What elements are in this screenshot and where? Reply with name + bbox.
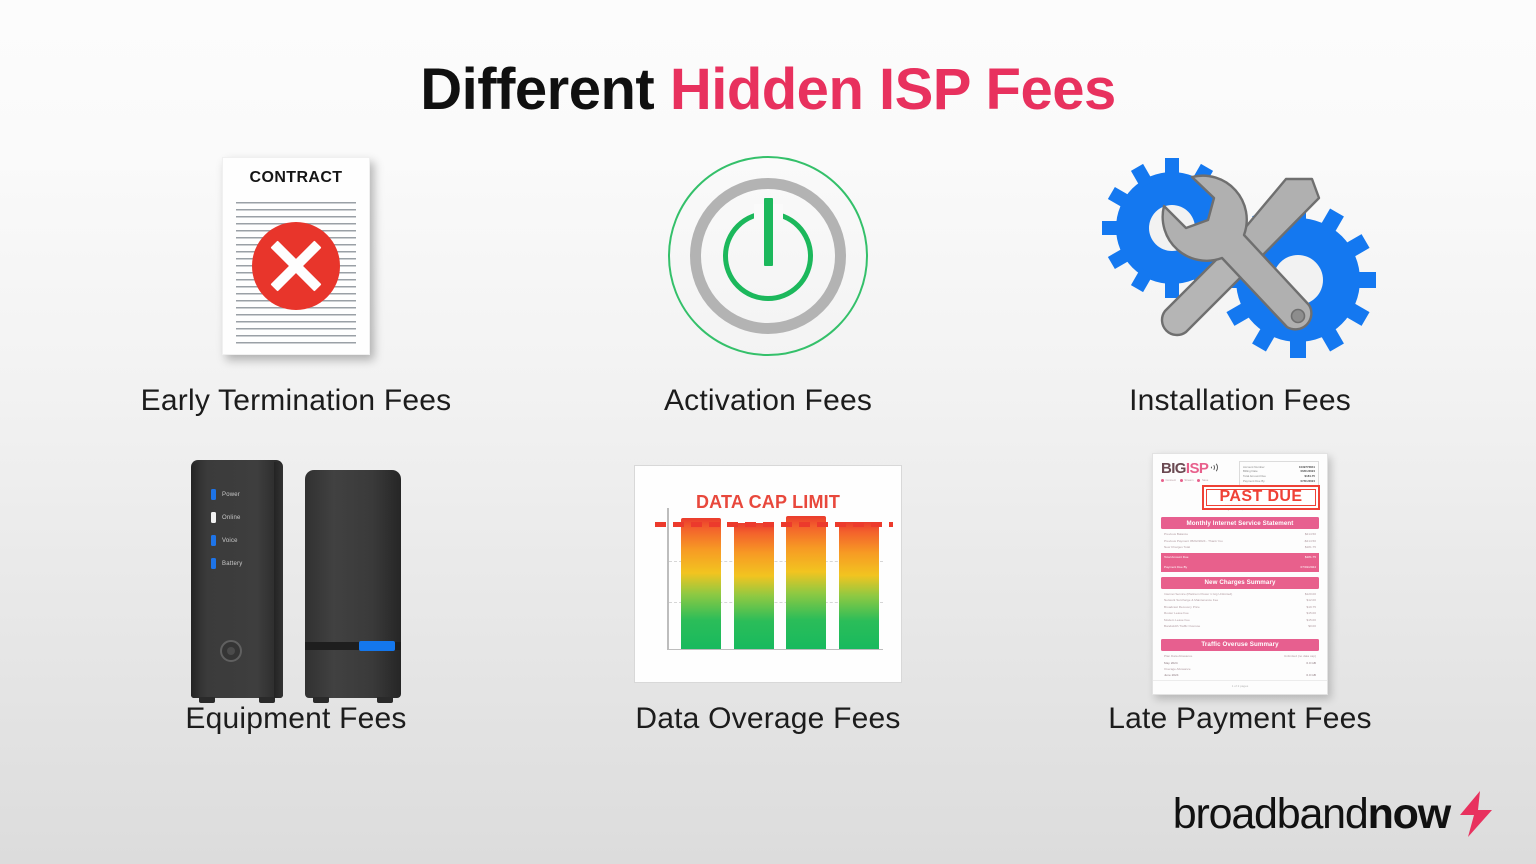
page-title: Different Hidden ISP Fees xyxy=(0,56,1536,123)
page-title-black: Different xyxy=(420,57,670,122)
data-cap-chart: DATA CAP LIMIT xyxy=(634,465,902,683)
tagline-save: Save xyxy=(1202,478,1208,482)
line-label: New Charges Total xyxy=(1164,544,1190,550)
modem-front: Power Online Voice Battery xyxy=(191,460,283,698)
modem-led-row: Online xyxy=(211,509,242,526)
total-due-value: $181.75 xyxy=(1305,554,1316,560)
modem-led-strip xyxy=(359,641,395,651)
brand-wordmark: broadbandnow xyxy=(1173,793,1450,836)
data-cap-chart-icon: DATA CAP LIMIT xyxy=(532,458,1004,690)
fee-label-late-payment: Late Payment Fees xyxy=(1004,702,1476,736)
led-label-voice: Voice xyxy=(222,538,238,544)
fee-card-equipment: Power Online Voice Battery xyxy=(60,458,532,758)
led-label-online: Online xyxy=(222,515,241,521)
led-indicator-voice xyxy=(211,535,216,546)
tagline-stream: Stream xyxy=(1184,478,1193,482)
due-by-label: Payment Due By xyxy=(1164,564,1187,570)
red-x-icon xyxy=(252,222,340,310)
chart-bar xyxy=(839,522,879,648)
fee-card-activation: Activation Fees xyxy=(532,140,1004,440)
fee-card-early-termination: CONTRACT Early Termination Fees xyxy=(60,140,532,440)
modem-led-row: Voice xyxy=(211,532,242,549)
led-label-battery: Battery xyxy=(222,561,242,567)
bill-logo-tagline: Connect Stream Save xyxy=(1161,478,1219,482)
power-button-graphic xyxy=(668,156,868,356)
bill-section-header-statement: Monthly Internet Service Statement xyxy=(1161,517,1319,529)
modem-led-row: Power xyxy=(211,486,242,503)
fee-label-data-overage: Data Overage Fees xyxy=(532,702,1004,736)
gears-tools-svg xyxy=(1090,140,1390,372)
due-by-value: 07/01/2024 xyxy=(1301,564,1316,570)
led-indicator-power xyxy=(211,489,216,500)
bill-logo-big: BIG xyxy=(1161,460,1186,477)
fee-card-installation: Installation Fees xyxy=(1004,140,1476,440)
modem-back xyxy=(305,470,401,698)
bill-logo-isp: ISP xyxy=(1186,460,1208,477)
chart-plot-area xyxy=(667,508,883,650)
fee-card-data-overage: DATA CAP LIMIT Data Overage Fees xyxy=(532,458,1004,758)
acct-label: Payment Due By xyxy=(1243,479,1265,484)
contract-x-icon: CONTRACT xyxy=(60,140,532,372)
lightning-bolt-icon xyxy=(1456,789,1496,839)
gears-tools-icon xyxy=(1004,140,1476,372)
acct-value: 07/01/2024 xyxy=(1301,479,1315,484)
bill-account-box: Account Number1039772841 Billing Date06/… xyxy=(1239,461,1319,488)
line-value: $181.75 xyxy=(1305,544,1316,550)
chart-y-axis xyxy=(667,508,669,650)
modem-power-button[interactable] xyxy=(220,640,242,662)
brand-bold: now xyxy=(1368,790,1450,838)
fee-card-late-payment: BIGISP Connect Stream Save Account Numbe… xyxy=(1004,458,1476,758)
fee-label-equipment: Equipment Fees xyxy=(60,702,532,736)
fee-label-early-termination: Early Termination Fees xyxy=(60,384,532,418)
power-button-icon xyxy=(532,140,1004,372)
chart-bar xyxy=(681,518,721,649)
fee-label-installation: Installation Fees xyxy=(1004,384,1476,418)
bill-footer: 1 of 2 pages xyxy=(1153,680,1327,688)
bill-section-body-statement: Previous Balance$214.50 Previous Payment… xyxy=(1161,529,1319,571)
modem-pair: Power Online Voice Battery xyxy=(191,450,401,698)
chart-bars xyxy=(681,508,879,649)
tagline-connect: Connect xyxy=(1166,478,1176,482)
contract-document: CONTRACT xyxy=(222,157,370,355)
led-indicator-online xyxy=(211,512,216,523)
chart-limit-line xyxy=(655,522,893,527)
led-label-power: Power xyxy=(222,492,240,498)
chart-bar xyxy=(786,516,826,648)
modem-led-list: Power Online Voice Battery xyxy=(211,486,242,578)
modem-feet xyxy=(197,697,277,703)
bill-header: BIGISP Connect Stream Save Account Numbe… xyxy=(1161,461,1319,488)
line-label: Bandwidth Traffic Overuse xyxy=(1164,623,1200,629)
bill-section-body-charges: Internet Service (Platinum Power 1 Gig U… xyxy=(1161,589,1319,630)
bill-logo: BIGISP xyxy=(1161,461,1219,476)
contract-heading: CONTRACT xyxy=(233,169,359,187)
bill-section-header-charges: New Charges Summary xyxy=(1161,577,1319,589)
total-due-label: Total Amount Due xyxy=(1164,554,1188,560)
past-due-bill-icon: BIGISP Connect Stream Save Account Numbe… xyxy=(1004,458,1476,690)
line-label: June 2024 xyxy=(1164,672,1178,678)
modem-led-row: Battery xyxy=(211,555,242,572)
fees-grid: CONTRACT Early Termination Fees Activati… xyxy=(60,140,1476,780)
chart-x-axis xyxy=(667,649,883,651)
chart-bar xyxy=(734,523,774,648)
line-value: 0.0 GB xyxy=(1306,660,1316,666)
isp-bill-document: BIGISP Connect Stream Save Account Numbe… xyxy=(1152,453,1328,695)
modem-router-icon: Power Online Voice Battery xyxy=(60,458,532,690)
line-value: 0.0 GB xyxy=(1306,672,1316,678)
line-value: $0.00 xyxy=(1308,623,1316,629)
bill-section-body-overuse: Plan Data AllowanceUnlimited (no data ca… xyxy=(1161,651,1319,679)
wifi-signal-icon xyxy=(1208,461,1219,474)
fee-label-activation: Activation Fees xyxy=(532,384,1004,418)
led-indicator-battery xyxy=(211,558,216,569)
page-title-pink: Hidden ISP Fees xyxy=(670,57,1116,122)
modem-feet xyxy=(311,697,395,703)
past-due-stamp: PAST DUE xyxy=(1202,485,1320,510)
bill-section-header-overuse: Traffic Overuse Summary xyxy=(1161,639,1319,651)
brand-thin: broadband xyxy=(1173,790,1368,838)
broadbandnow-logo[interactable]: broadbandnow xyxy=(1173,788,1496,840)
